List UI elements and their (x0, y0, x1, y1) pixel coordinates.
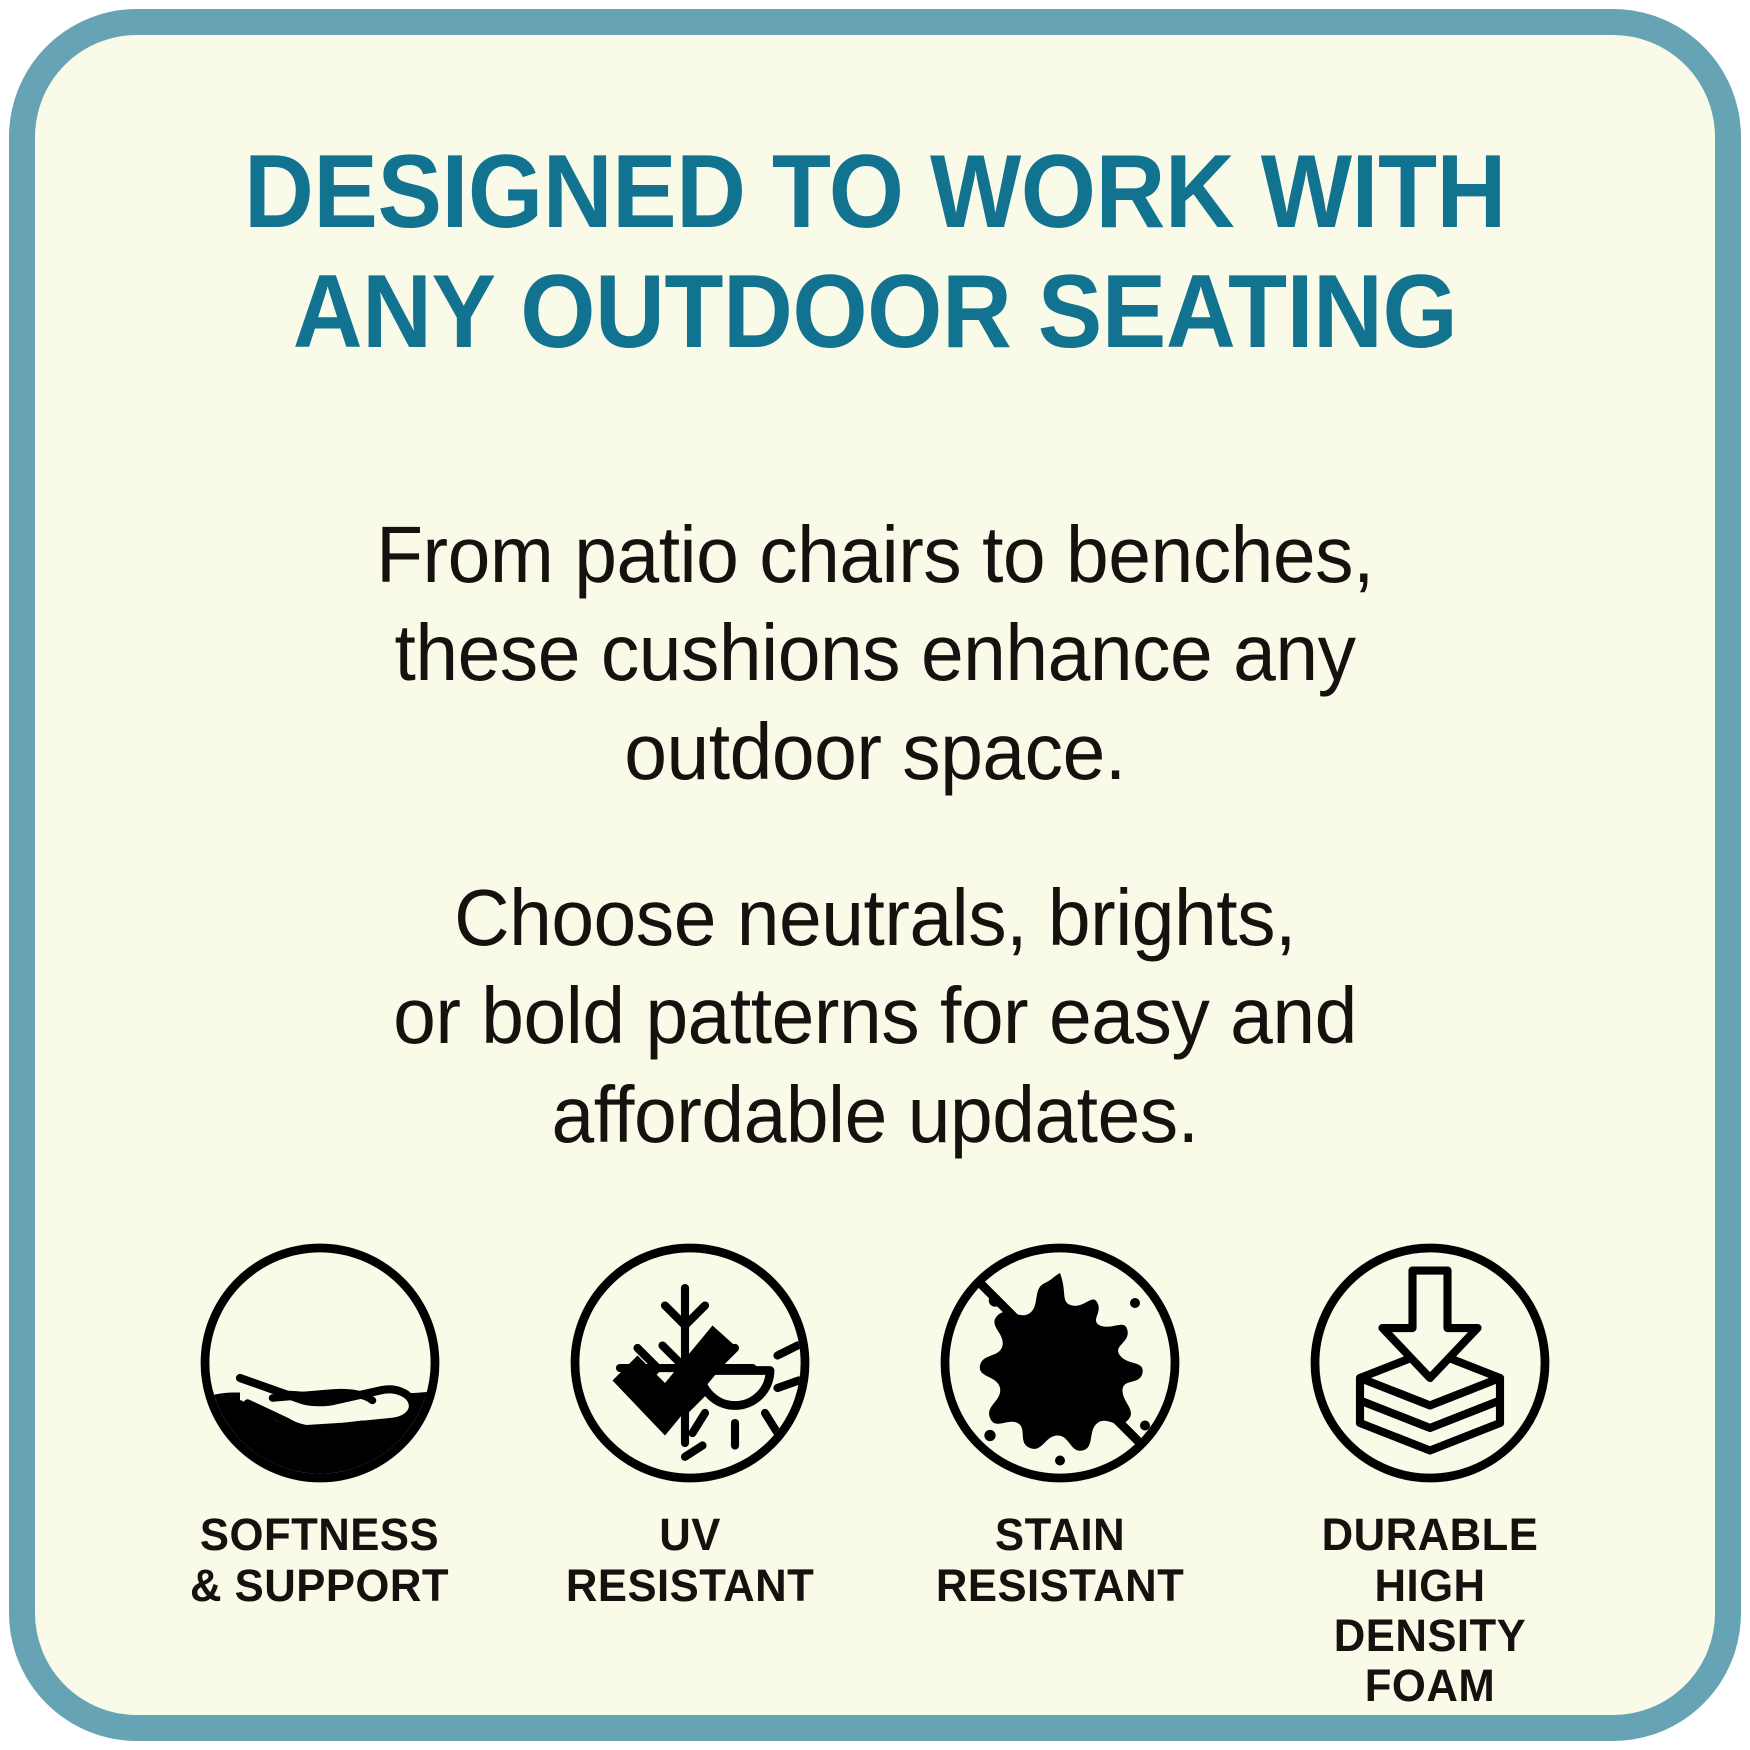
hand-pressing-cushion-icon (195, 1238, 445, 1488)
feature-softness-support: SOFTNESS & SUPPORT (150, 1238, 490, 1611)
stain-splatter-no-icon (935, 1238, 1185, 1488)
feature-durable-foam: DURABLE HIGH DENSITY FOAM (1260, 1238, 1600, 1712)
feature-label: SOFTNESS & SUPPORT (190, 1510, 449, 1611)
promo-card: DESIGNED TO WORK WITH ANY OUTDOOR SEATIN… (9, 9, 1741, 1741)
paragraph-1: From patio chairs to benches, these cush… (280, 506, 1470, 801)
feature-stain-resistant: STAIN RESISTANT (890, 1238, 1230, 1611)
feature-label: DURABLE HIGH DENSITY FOAM (1265, 1510, 1595, 1712)
body-copy: From patio chairs to benches, these cush… (255, 506, 1495, 1164)
feature-row: SOFTNESS & SUPPORT (150, 1238, 1600, 1712)
feature-uv-resistant: UV RESISTANT (520, 1238, 860, 1611)
uv-sun-check-icon (565, 1238, 815, 1488)
arrow-into-foam-layers-icon (1305, 1238, 1555, 1488)
paragraph-2: Choose neutrals, brights, or bold patter… (280, 869, 1470, 1164)
feature-label: UV RESISTANT (566, 1510, 815, 1611)
page-title: DESIGNED TO WORK WITH ANY OUTDOOR SEATIN… (187, 133, 1563, 372)
feature-label: STAIN RESISTANT (936, 1510, 1185, 1611)
